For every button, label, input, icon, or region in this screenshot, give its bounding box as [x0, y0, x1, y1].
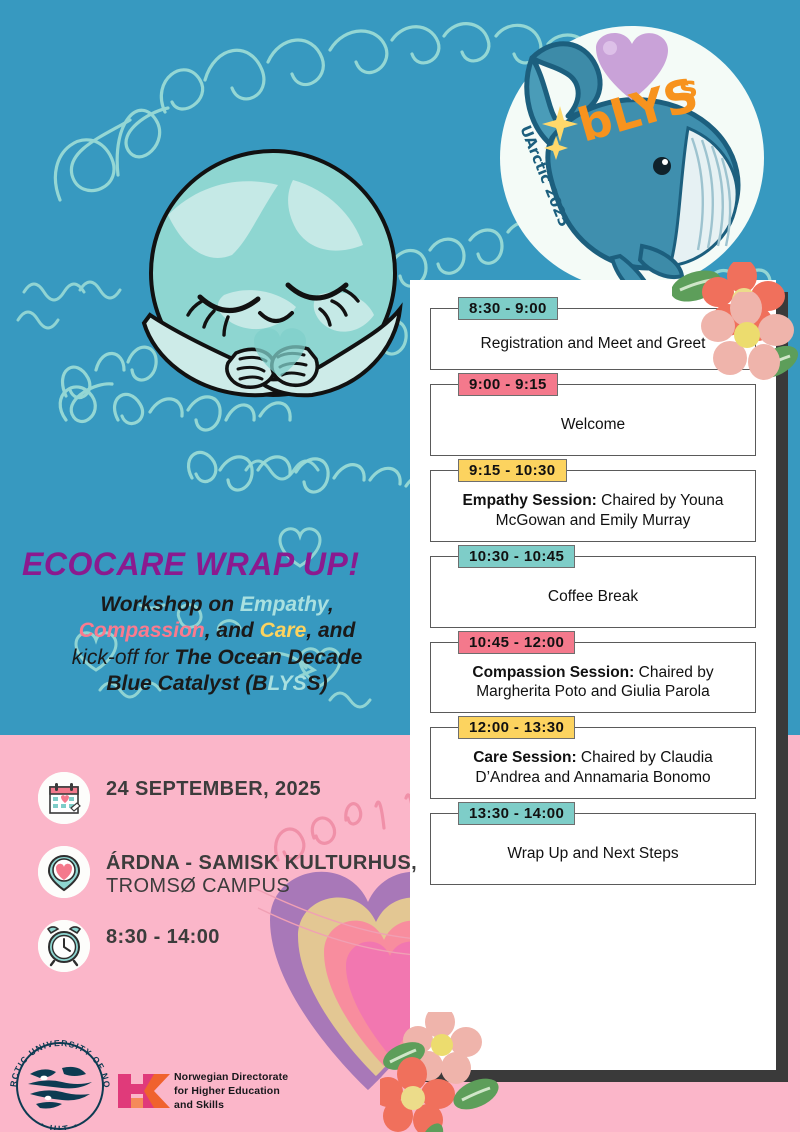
earth-hugging-illustration	[128, 145, 418, 410]
hk-line-2: for Higher Education	[174, 1085, 288, 1099]
schedule-description: Welcome	[561, 415, 625, 435]
schedule-time-badge: 9:00 - 9:15	[458, 373, 558, 396]
svg-text:• UIT •: • UIT •	[39, 1120, 82, 1130]
flower-cluster-bottom	[380, 1012, 550, 1132]
schedule-title: Care Session:	[473, 749, 576, 766]
schedule-time-badge: 8:30 - 9:00	[458, 297, 558, 320]
schedule-item[interactable]: 10:45 - 12:00 Compassion Session: Chaire…	[430, 642, 756, 714]
detail-campus: TROMSØ CAMPUS	[106, 875, 417, 898]
schedule-item[interactable]: 12:00 - 13:30 Care Session: Chaired by C…	[430, 727, 756, 799]
subtitle-comma1: ,	[328, 593, 334, 616]
subtitle-mid: , and	[205, 619, 260, 642]
schedule-time-badge: 12:00 - 13:30	[458, 716, 575, 739]
subtitle-post: , and	[306, 619, 355, 642]
subtitle-close: S)	[307, 672, 328, 695]
uit-logo: THE ARCTIC UNIVERSITY OF NORWAY • UIT •	[6, 1040, 114, 1130]
schedule-time-badge: 10:45 - 12:00	[458, 631, 575, 654]
event-details: 24 SEPTEMBER, 2025 ÁRDNA - SAMISK KULTUR…	[38, 772, 418, 994]
location-pin-icon	[38, 846, 90, 898]
schedule-body: Coffee Break	[548, 588, 638, 605]
schedule-body: Wrap Up and Next Steps	[507, 845, 678, 862]
schedule-body: Welcome	[561, 416, 625, 433]
hk-directorate-logo: Norwegian Directorate for Higher Educati…	[118, 1070, 298, 1118]
hk-line-1: Norwegian Directorate	[174, 1071, 288, 1085]
schedule-time-badge: 10:30 - 10:45	[458, 545, 575, 568]
alarm-clock-icon	[38, 920, 90, 972]
schedule-item[interactable]: 13:30 - 14:00 Wrap Up and Next Steps	[430, 813, 756, 885]
page-title: ECOCARE WRAP UP!	[22, 548, 412, 580]
hk-line-3: and Skills	[174, 1099, 288, 1113]
schedule-description: Empathy Session: Chaired by Youna McGowa…	[441, 491, 745, 531]
detail-row-date: 24 SEPTEMBER, 2025	[38, 772, 418, 824]
schedule-title: Empathy Session:	[462, 492, 596, 509]
hk-mark-icon	[118, 1070, 170, 1116]
uit-emblem	[28, 1067, 92, 1109]
schedule-item[interactable]: 10:30 - 10:45 Coffee Break	[430, 556, 756, 628]
subtitle-empathy: Empathy	[240, 593, 328, 616]
schedule-item[interactable]: 9:15 - 10:30 Empathy Session: Chaired by…	[430, 470, 756, 542]
detail-text: ÁRDNA - SAMISK KULTURHUS, TROMSØ CAMPUS	[106, 846, 417, 898]
detail-text: 8:30 - 14:00	[106, 920, 220, 949]
subtitle-ocean: The Ocean Decade	[174, 646, 362, 669]
flower-pale-top	[700, 292, 800, 402]
subtitle: Workshop on Empathy, Compassion, and Car…	[22, 592, 412, 697]
subtitle-lys: LYS	[267, 672, 306, 695]
schedule-time-badge: 9:15 - 10:30	[458, 459, 567, 482]
detail-venue: ÁRDNA - SAMISK KULTURHUS,	[106, 852, 417, 875]
svg-text:s: s	[678, 70, 698, 106]
subtitle-kickoff: kick-off for	[72, 646, 175, 669]
schedule-description: Coffee Break	[548, 587, 638, 607]
detail-row-location: ÁRDNA - SAMISK KULTURHUS, TROMSØ CAMPUS	[38, 846, 418, 898]
title-block: ECOCARE WRAP UP! Workshop on Empathy, Co…	[22, 548, 412, 697]
subtitle-compassion: Compassion	[79, 619, 205, 642]
schedule-title: Compassion Session:	[472, 664, 634, 681]
schedule-description: Wrap Up and Next Steps	[507, 844, 678, 864]
subtitle-care: Care	[260, 619, 307, 642]
schedule-description: Compassion Session: Chaired by Margherit…	[441, 663, 745, 703]
detail-text: 24 SEPTEMBER, 2025	[106, 772, 321, 801]
schedule-description: Care Session: Chaired by Claudia D’Andre…	[441, 748, 745, 788]
event-poster: bLYS s UArctic 2025	[0, 0, 800, 1132]
detail-date: 24 SEPTEMBER, 2025	[106, 778, 321, 801]
schedule-time-badge: 13:30 - 14:00	[458, 802, 575, 825]
subtitle-line1-pre: Workshop on	[100, 593, 240, 616]
detail-row-time: 8:30 - 14:00	[38, 920, 418, 972]
hk-logo-text: Norwegian Directorate for Higher Educati…	[174, 1071, 288, 1113]
subtitle-blue-catalyst: Blue Catalyst (B	[106, 672, 267, 695]
calendar-icon	[38, 772, 90, 824]
detail-time: 8:30 - 14:00	[106, 926, 220, 949]
